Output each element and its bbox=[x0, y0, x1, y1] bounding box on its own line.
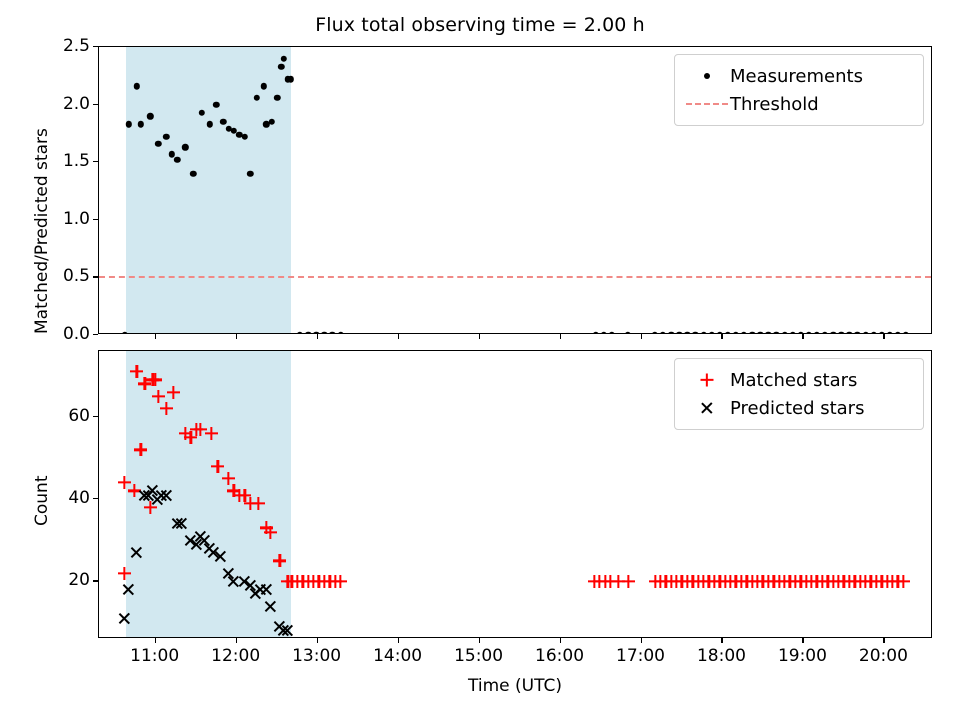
matched-plus-icon bbox=[684, 374, 730, 387]
y-axis-tick bbox=[93, 104, 98, 105]
legend-label-measurements: Measurements bbox=[730, 66, 863, 87]
x-axis-tick bbox=[317, 334, 318, 339]
x-axis-tick bbox=[155, 638, 156, 643]
x-axis-tick bbox=[398, 334, 399, 339]
x-axis-tick bbox=[560, 638, 561, 643]
x-axis-tick-label: 20:00 bbox=[859, 646, 908, 666]
y-axis-tick bbox=[93, 416, 98, 417]
x-axis-tick bbox=[236, 334, 237, 339]
bottom-panel-legend: Matched stars Predicted stars bbox=[674, 358, 924, 430]
y-axis-tick-label: 0.0 bbox=[63, 324, 90, 344]
x-axis-tick bbox=[883, 334, 884, 339]
y-axis-tick bbox=[93, 276, 98, 277]
y-axis-tick-label: 2.0 bbox=[63, 94, 90, 114]
x-axis-tick bbox=[721, 638, 722, 643]
legend-label-threshold: Threshold bbox=[730, 94, 819, 115]
top-panel-y-axis-label: Matched/Predicted stars bbox=[32, 128, 52, 334]
top-panel-legend: Measurements Threshold bbox=[674, 54, 924, 126]
legend-item-measurements: Measurements bbox=[684, 62, 912, 90]
page-title: Flux total observing time = 2.00 h bbox=[0, 14, 960, 36]
y-axis-tick-label: 0.5 bbox=[63, 266, 90, 286]
y-axis-tick bbox=[93, 46, 98, 47]
y-axis-tick bbox=[93, 161, 98, 162]
x-axis-tick bbox=[883, 638, 884, 643]
x-axis-tick bbox=[398, 638, 399, 643]
predicted-x-icon bbox=[684, 402, 730, 415]
x-axis-tick-label: 11:00 bbox=[130, 646, 179, 666]
x-axis-tick bbox=[802, 334, 803, 339]
legend-item-matched-stars: Matched stars bbox=[684, 366, 912, 394]
x-axis-tick-label: 17:00 bbox=[616, 646, 665, 666]
x-axis-tick-label: 16:00 bbox=[535, 646, 584, 666]
y-axis-tick bbox=[93, 580, 98, 581]
y-axis-tick-label: 40 bbox=[68, 488, 90, 508]
y-axis-tick-label: 1.0 bbox=[63, 209, 90, 229]
x-axis-tick bbox=[641, 334, 642, 339]
x-axis-tick-label: 14:00 bbox=[373, 646, 422, 666]
x-axis-tick bbox=[155, 334, 156, 339]
x-axis-tick bbox=[479, 334, 480, 339]
legend-label-matched-stars: Matched stars bbox=[730, 370, 857, 391]
y-axis-tick-label: 20 bbox=[68, 570, 90, 590]
x-axis-tick bbox=[802, 638, 803, 643]
x-axis-tick-label: 19:00 bbox=[778, 646, 827, 666]
x-axis-tick-label: 12:00 bbox=[211, 646, 260, 666]
x-axis-tick bbox=[236, 638, 237, 643]
measurements-dot-icon bbox=[684, 73, 730, 79]
x-axis-tick-label: 13:00 bbox=[292, 646, 341, 666]
y-axis-tick bbox=[93, 498, 98, 499]
y-axis-tick bbox=[93, 219, 98, 220]
x-axis-tick bbox=[721, 334, 722, 339]
x-axis-tick bbox=[560, 334, 561, 339]
x-axis-tick-label: 15:00 bbox=[454, 646, 503, 666]
x-axis-tick bbox=[317, 638, 318, 643]
x-axis-tick-label: 18:00 bbox=[697, 646, 746, 666]
bottom-panel-y-axis-label: Count bbox=[32, 476, 52, 527]
legend-item-predicted-stars: Predicted stars bbox=[684, 394, 912, 422]
x-axis-tick bbox=[641, 638, 642, 643]
legend-label-predicted-stars: Predicted stars bbox=[730, 398, 864, 419]
figure-canvas: Flux total observing time = 2.00 h 0.00.… bbox=[0, 0, 960, 720]
x-axis-tick bbox=[479, 638, 480, 643]
y-axis-tick-label: 60 bbox=[68, 406, 90, 426]
threshold-dash-icon bbox=[684, 103, 730, 105]
y-axis-tick-label: 1.5 bbox=[63, 151, 90, 171]
x-axis-label: Time (UTC) bbox=[98, 676, 932, 696]
y-axis-tick bbox=[93, 334, 98, 335]
legend-item-threshold: Threshold bbox=[684, 90, 912, 118]
y-axis-tick-label: 2.5 bbox=[63, 36, 90, 56]
